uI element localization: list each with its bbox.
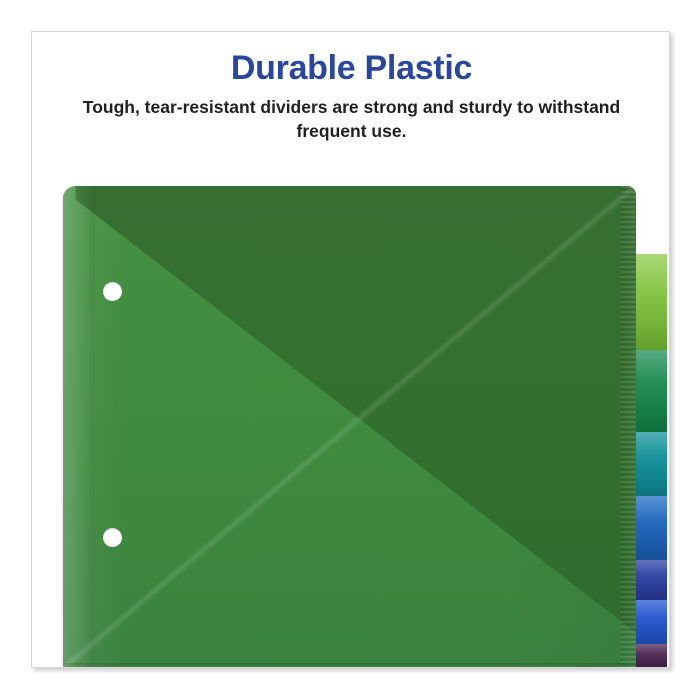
- headline-subtitle: Tough, tear-resistant dividers are stron…: [72, 96, 632, 143]
- binding-edge-strip: [63, 186, 95, 668]
- plastic-divider-sheet: [63, 186, 636, 668]
- reinforced-ridged-edge: [620, 186, 636, 668]
- headline-block: Durable Plastic Tough, tear-resistant di…: [32, 50, 670, 143]
- punch-hole-bottom: [103, 528, 122, 547]
- product-card-frame: Durable Plastic Tough, tear-resistant di…: [31, 31, 670, 668]
- punch-hole-top: [103, 282, 122, 301]
- product-base-shadow: [63, 663, 636, 667]
- page-title: Durable Plastic: [32, 50, 670, 87]
- product-image-canvas: Durable Plastic Tough, tear-resistant di…: [0, 0, 700, 700]
